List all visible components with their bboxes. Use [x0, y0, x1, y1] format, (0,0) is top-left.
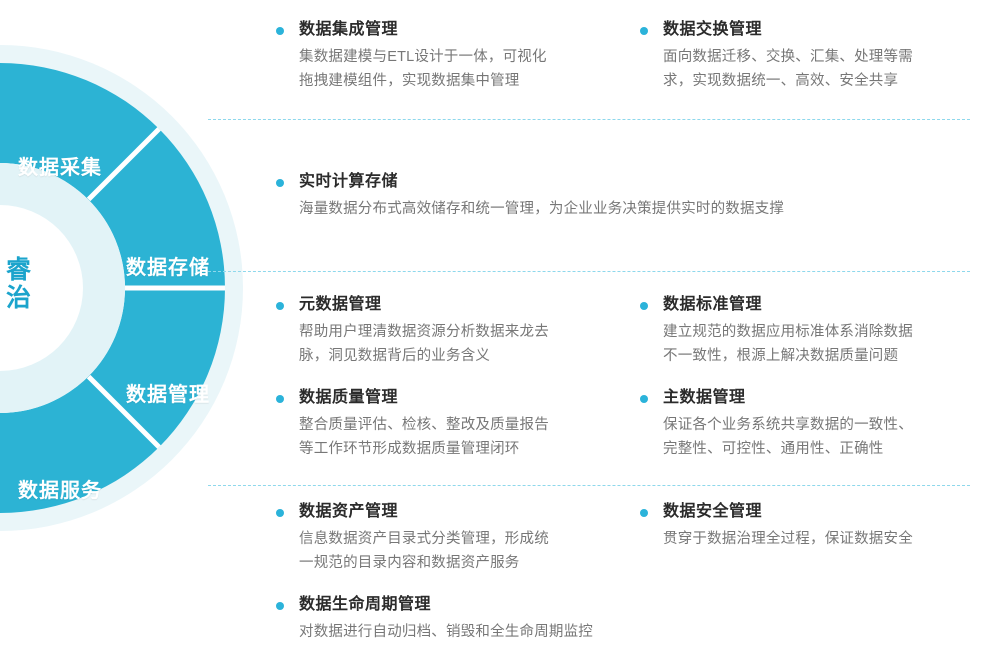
item-desc-line: 脉，洞见数据背后的业务含义	[299, 345, 617, 368]
brand-center-line2: 治	[6, 284, 32, 312]
item-title: 元数据管理	[299, 293, 617, 316]
item-desc-line: 贯穿于数据治理全过程，保证数据安全	[663, 528, 986, 551]
bullet-icon	[640, 27, 648, 35]
item-desc-line: 不一致性，根源上解决数据质量问题	[663, 345, 986, 368]
bullet-icon	[640, 509, 648, 517]
item-desc: 信息数据资产目录式分类管理，形成统 一规范的目录内容和数据资产服务	[299, 528, 617, 575]
item-desc: 建立规范的数据应用标准体系消除数据 不一致性，根源上解决数据质量问题	[663, 321, 986, 368]
item-desc: 对数据进行自动归档、销毁和全生命周期监控	[299, 621, 719, 644]
band-service-col-right: 数据安全管理 贯穿于数据治理全过程，保证数据安全	[636, 500, 986, 552]
bullet-icon	[276, 179, 284, 187]
bullet-icon	[276, 27, 284, 35]
bullet-icon	[276, 302, 284, 310]
band-collection-col-right: 数据交换管理 面向数据迁移、交换、汇集、处理等需 求，实现数据统一、高效、安全共…	[636, 18, 986, 93]
list-item[interactable]: 主数据管理 保证各个业务系统共享数据的一致性、 完整性、可控性、通用性、正确性	[636, 386, 986, 461]
item-desc: 保证各个业务系统共享数据的一致性、 完整性、可控性、通用性、正确性	[663, 414, 986, 461]
brand-center-text: 睿 治	[6, 256, 32, 312]
item-title: 数据标准管理	[663, 293, 986, 316]
item-desc-line: 求，实现数据统一、高效、安全共享	[663, 70, 986, 93]
item-title: 数据交换管理	[663, 18, 986, 41]
bullet-icon	[276, 509, 284, 517]
bullet-icon	[276, 602, 284, 610]
wheel-svg	[0, 41, 247, 535]
item-desc-line: 整合质量评估、检核、整改及质量报告	[299, 414, 617, 437]
list-item[interactable]: 实时计算存储 海量数据分布式高效储存和统一管理，为企业业务决策提供实时的数据支撑	[272, 170, 972, 222]
wheel-label-data-service: 数据服务	[18, 474, 102, 503]
bullet-icon	[276, 395, 284, 403]
item-desc-line: 帮助用户理清数据资源分析数据来龙去	[299, 321, 617, 344]
band-divider-1	[208, 119, 970, 120]
list-item[interactable]: 数据安全管理 贯穿于数据治理全过程，保证数据安全	[636, 500, 986, 552]
band-management-col-left: 元数据管理 帮助用户理清数据资源分析数据来龙去 脉，洞见数据背后的业务含义 数据…	[272, 293, 617, 461]
item-title: 数据生命周期管理	[299, 593, 617, 616]
item-desc-line: 等工作环节形成数据质量管理闭环	[299, 438, 617, 461]
wheel-label-data-storage: 数据存储	[126, 251, 210, 280]
list-item[interactable]: 元数据管理 帮助用户理清数据资源分析数据来龙去 脉，洞见数据背后的业务含义	[272, 293, 617, 368]
item-desc: 海量数据分布式高效储存和统一管理，为企业业务决策提供实时的数据支撑	[299, 198, 972, 221]
brand-center-line1: 睿	[6, 256, 32, 284]
band-collection-col-left: 数据集成管理 集数据建模与ETL设计于一体，可视化 拖拽建模组件，实现数据集中管…	[272, 18, 617, 93]
item-desc: 贯穿于数据治理全过程，保证数据安全	[663, 528, 986, 551]
item-desc-line: 对数据进行自动归档、销毁和全生命周期监控	[299, 621, 719, 644]
list-item[interactable]: 数据集成管理 集数据建模与ETL设计于一体，可视化 拖拽建模组件，实现数据集中管…	[272, 18, 617, 93]
item-desc-line: 海量数据分布式高效储存和统一管理，为企业业务决策提供实时的数据支撑	[299, 198, 972, 221]
list-item[interactable]: 数据资产管理 信息数据资产目录式分类管理，形成统 一规范的目录内容和数据资产服务	[272, 500, 617, 575]
bullet-icon	[640, 395, 648, 403]
item-desc: 整合质量评估、检核、整改及质量报告 等工作环节形成数据质量管理闭环	[299, 414, 617, 461]
list-item[interactable]: 数据生命周期管理 对数据进行自动归档、销毁和全生命周期监控	[272, 593, 617, 645]
band-collection: 数据集成管理 集数据建模与ETL设计于一体，可视化 拖拽建模组件，实现数据集中管…	[272, 18, 986, 118]
bullet-icon	[640, 302, 648, 310]
list-item[interactable]: 数据质量管理 整合质量评估、检核、整改及质量报告 等工作环节形成数据质量管理闭环	[272, 386, 617, 461]
band-management: 元数据管理 帮助用户理清数据资源分析数据来龙去 脉，洞见数据背后的业务含义 数据…	[272, 293, 986, 473]
wheel-label-data-management: 数据管理	[126, 378, 210, 407]
band-divider-3	[208, 485, 970, 486]
capability-list: 数据集成管理 集数据建模与ETL设计于一体，可视化 拖拽建模组件，实现数据集中管…	[272, 0, 986, 669]
item-desc: 面向数据迁移、交换、汇集、处理等需 求，实现数据统一、高效、安全共享	[663, 46, 986, 93]
item-title: 数据安全管理	[663, 500, 986, 523]
band-management-col-right: 数据标准管理 建立规范的数据应用标准体系消除数据 不一致性，根源上解决数据质量问…	[636, 293, 986, 461]
item-desc-line: 面向数据迁移、交换、汇集、处理等需	[663, 46, 986, 69]
capability-wheel: 数据采集 数据存储 数据管理 数据服务 睿 治	[0, 41, 247, 535]
item-desc-line: 保证各个业务系统共享数据的一致性、	[663, 414, 986, 437]
item-desc-line: 一规范的目录内容和数据资产服务	[299, 552, 617, 575]
item-desc-line: 建立规范的数据应用标准体系消除数据	[663, 321, 986, 344]
item-desc-line: 完整性、可控性、通用性、正确性	[663, 438, 986, 461]
item-title: 数据质量管理	[299, 386, 617, 409]
item-desc-line: 信息数据资产目录式分类管理，形成统	[299, 528, 617, 551]
list-item[interactable]: 数据交换管理 面向数据迁移、交换、汇集、处理等需 求，实现数据统一、高效、安全共…	[636, 18, 986, 93]
item-title: 实时计算存储	[299, 170, 972, 193]
list-item[interactable]: 数据标准管理 建立规范的数据应用标准体系消除数据 不一致性，根源上解决数据质量问…	[636, 293, 986, 368]
item-desc-line: 拖拽建模组件，实现数据集中管理	[299, 70, 617, 93]
item-desc-line: 集数据建模与ETL设计于一体，可视化	[299, 46, 617, 69]
item-title: 数据资产管理	[299, 500, 617, 523]
band-service-col-left: 数据资产管理 信息数据资产目录式分类管理，形成统 一规范的目录内容和数据资产服务…	[272, 500, 617, 645]
item-desc: 帮助用户理清数据资源分析数据来龙去 脉，洞见数据背后的业务含义	[299, 321, 617, 368]
wheel-label-data-collection: 数据采集	[18, 151, 102, 180]
item-title: 主数据管理	[663, 386, 986, 409]
band-storage-col-left: 实时计算存储 海量数据分布式高效储存和统一管理，为企业业务决策提供实时的数据支撑	[272, 170, 972, 222]
item-title: 数据集成管理	[299, 18, 617, 41]
band-storage: 实时计算存储 海量数据分布式高效储存和统一管理，为企业业务决策提供实时的数据支撑	[272, 170, 986, 240]
band-divider-2	[208, 271, 970, 272]
band-service: 数据资产管理 信息数据资产目录式分类管理，形成统 一规范的目录内容和数据资产服务…	[272, 500, 986, 660]
item-desc: 集数据建模与ETL设计于一体，可视化 拖拽建模组件，实现数据集中管理	[299, 46, 617, 93]
